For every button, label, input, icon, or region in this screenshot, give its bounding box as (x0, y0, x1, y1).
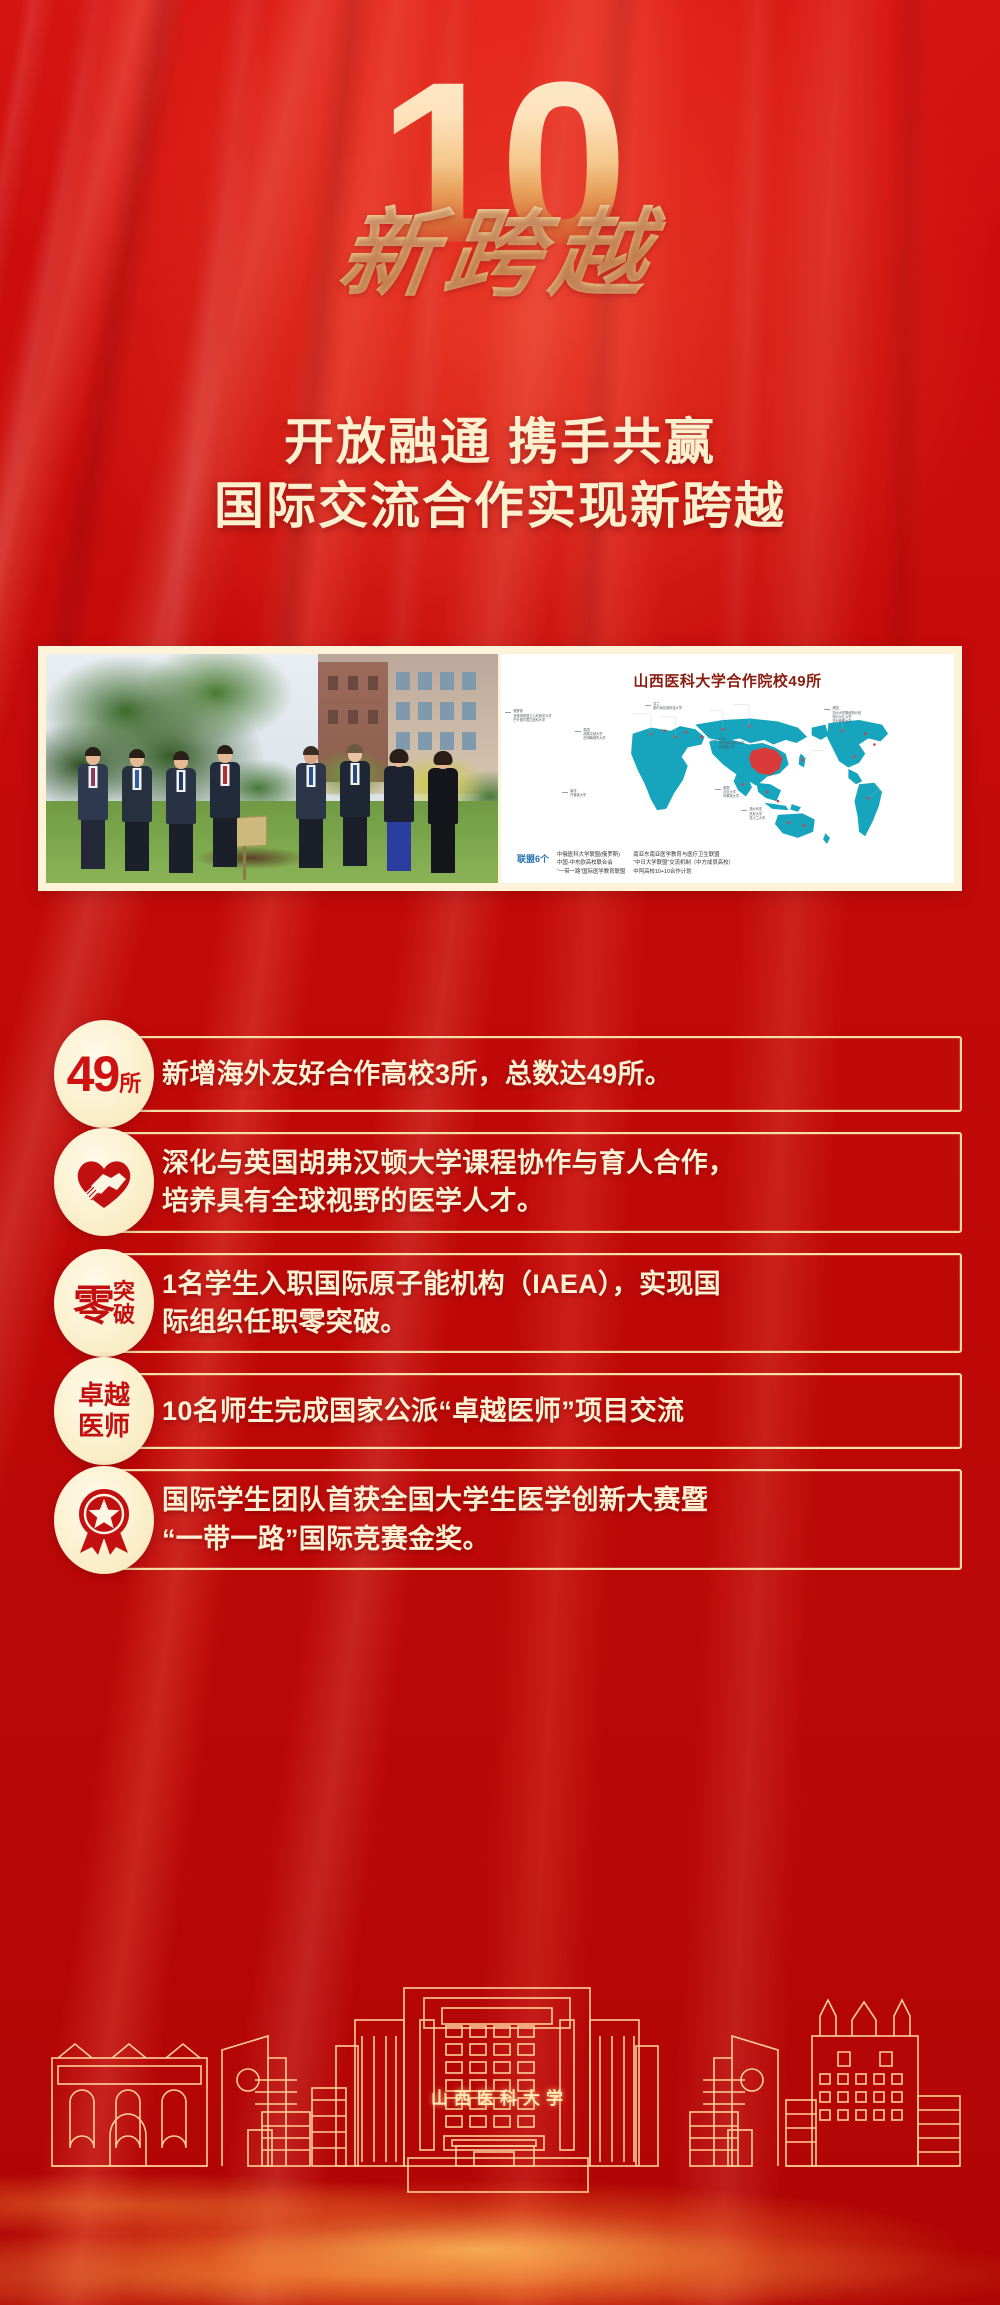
map-legend: 联盟6个 中俄医科大学联盟(俄罗斯) 中国-中东欧高校联合会 “一带一路”国际医… (517, 852, 946, 877)
badge-unit: 所 (119, 1066, 141, 1098)
map-label-note: 俄罗斯 圣彼得堡国立儿科医学大学 巴什基尔国立医科大学 (513, 709, 551, 722)
card-body: 1名学生入职国际原子能机构（IAEA），实现国 际组织任职零突破。 (98, 1253, 962, 1354)
heart-handshake-icon (54, 1128, 154, 1236)
calligraphy-title: 新跨越 (0, 176, 1000, 315)
card-body: 10名师生完成国家公派“卓越医师”项目交流 (98, 1373, 962, 1449)
badge-line-1: 卓越 (78, 1380, 130, 1411)
count-badge-49-icon: 49 所 (54, 1020, 154, 1128)
legend-item: 中阿高校10+10合作计划 (633, 869, 734, 877)
achievement-card: 深化与英国胡弗汉顿大学课程协作与育人合作， 培养具有全球视野的医学人才。 (38, 1132, 962, 1233)
group-photo (46, 654, 498, 883)
card-text: 新增海外友好合作高校3所，总数达49所。 (162, 1055, 672, 1093)
legend-item: “中日大学联盟”交流机制（中方成员高校） (633, 860, 734, 868)
card-text: 深化与英国胡弗汉顿大学课程协作与育人合作， 培养具有全球视野的医学人才。 (162, 1144, 735, 1221)
campus-skyline-footer: 山西医科大学 (0, 1885, 1000, 2305)
hero-section: 10 新跨越 开放融通 携手共赢 国际交流合作实现新跨越 (0, 0, 1000, 640)
headline-line-1: 开放融通 携手共赢 (0, 410, 1000, 474)
badge-zero-char: 零 (73, 1272, 115, 1333)
map-title: 山西医科大学合作院校49所 (501, 670, 954, 691)
card-body: 深化与英国胡弗汉顿大学课程协作与育人合作， 培养具有全球视野的医学人才。 (98, 1132, 962, 1233)
excellent-doctor-badge-icon: 卓越 医师 (54, 1357, 154, 1465)
card-body: 新增海外友好合作高校3所，总数达49所。 (98, 1036, 962, 1112)
badge-stack-char-1: 突 (113, 1280, 135, 1303)
achievement-card: 卓越 医师 10名师生完成国家公派“卓越医师”项目交流 (38, 1373, 962, 1449)
badge-number: 49 (67, 1045, 119, 1103)
main-tower-building (336, 1988, 658, 2166)
achievement-card-list: 49 所 新增海外友好合作高校3所，总数达49所。 (38, 1036, 962, 1590)
map-label-note: 美国 加州大学戴维斯分校 纽约州立大学 亚利桑那大学 (832, 706, 861, 723)
map-legend-column-1: 中俄医科大学联盟(俄罗斯) 中国-中东欧高校联合会 “一带一路”国际医学教育联盟 (557, 852, 625, 877)
badge-stack-char-2: 破 (113, 1303, 135, 1326)
card-text: 10名师生完成国家公派“卓越医师”项目交流 (162, 1392, 684, 1430)
card-body: 国际学生团队首获全国大学生医学创新大赛暨 “一带一路”国际竞赛金奖。 (98, 1469, 962, 1570)
badge-line-2: 医师 (78, 1411, 130, 1442)
award-medal-glyph (72, 1485, 136, 1555)
map-label-note: 日本 东京医科齿科大学 北海道大学 (719, 737, 745, 750)
map-legend-column-2: 南亚东南亚医学教育与医疗卫生联盟 “中日大学联盟”交流机制（中方成员高校） 中阿… (633, 852, 734, 877)
media-frame: 山西医科大学合作院校49所 (38, 646, 962, 891)
legend-item: 中俄医科大学联盟(俄罗斯) (557, 852, 625, 860)
world-map-svg (509, 694, 946, 847)
award-medal-star-icon (54, 1466, 154, 1574)
achievement-card: 49 所 新增海外友好合作高校3所，总数达49所。 (38, 1036, 962, 1112)
map-label-note: 芬兰 图尔库应用科技大学 (653, 702, 682, 711)
world-landmass (631, 718, 888, 843)
poster-canvas: 10 新跨越 开放融通 携手共赢 国际交流合作实现新跨越 (0, 0, 1000, 2305)
legend-item: 中国-中东欧高校联合会 (557, 860, 625, 868)
card-text: 国际学生团队首获全国大学生医学创新大赛暨 “一带一路”国际竞赛金奖。 (162, 1481, 708, 1558)
map-label-note: 澳大利亚 悉尼大学 昆士兰大学 (749, 807, 765, 820)
heart-handshake-glyph (71, 1153, 137, 1211)
headline-line-2: 国际交流合作实现新跨越 (0, 474, 1000, 538)
university-name-text: 山西医科大学 (0, 2084, 1000, 2109)
card-text: 1名学生入职国际原子能机构（IAEA），实现国 际组织任职零突破。 (162, 1265, 721, 1342)
legend-item: “一带一路”国际医学教育联盟 (557, 869, 625, 877)
photo-delegation-people (76, 742, 476, 877)
university-name-plaque (408, 2158, 588, 2192)
map-label-note: 英国 胡弗汉顿大学 伯明翰城市大学 (583, 728, 605, 741)
map-label-note: 南非 开普敦大学 (570, 789, 586, 798)
partner-universities-map: 山西医科大学合作院校49所 (498, 654, 954, 883)
legend-item: 南亚东南亚医学教育与医疗卫生联盟 (633, 852, 734, 860)
map-label-note: 泰国 清迈大学 玛希隆大学 (723, 786, 739, 799)
achievement-card: 国际学生团队首获全国大学生医学创新大赛暨 “一带一路”国际竞赛金奖。 (38, 1469, 962, 1570)
headline-block: 开放融通 携手共赢 国际交流合作实现新跨越 (0, 410, 1000, 538)
achievement-card: 零 突 破 1名学生入职国际原子能机构（IAEA），实现国 际组织任职零突破。 (38, 1253, 962, 1354)
map-canvas: 俄罗斯 圣彼得堡国立儿科医学大学 巴什基尔国立医科大学 英国 胡弗汉顿大学 伯明… (509, 694, 946, 847)
map-legend-title: 联盟6个 (517, 852, 549, 865)
castle-building (786, 2000, 960, 2166)
zero-breakthrough-badge-icon: 零 突 破 (54, 1249, 154, 1357)
